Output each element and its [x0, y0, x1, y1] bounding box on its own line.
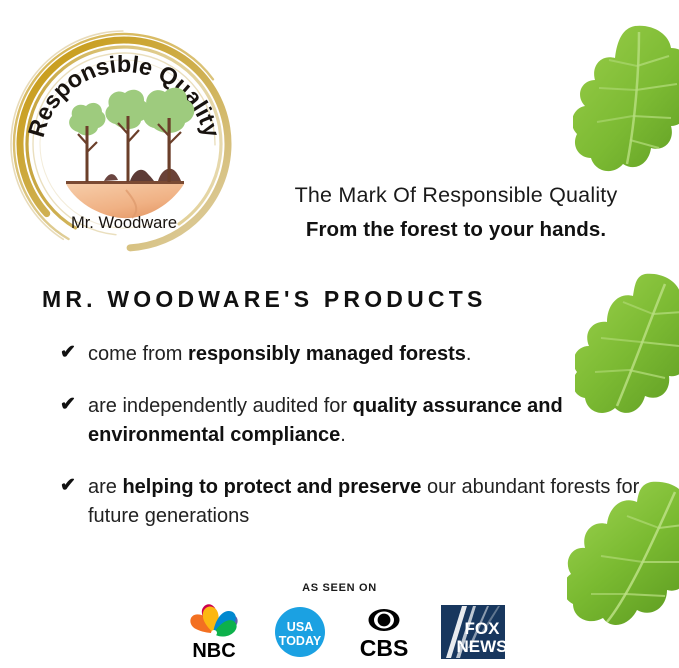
- media-logo-strip: NBC USA TODAY CBS FOX: [0, 604, 679, 660]
- badge-brand-name: Mr. Woodware: [71, 214, 177, 232]
- list-item: ✔ come from responsibly managed forests.: [60, 340, 660, 368]
- page-title: MR. WOODWARE'S PRODUCTS: [42, 286, 487, 313]
- promo-image: Responsible Quality Mr. Woodware: [0, 0, 679, 668]
- benefits-list: ✔ come from responsibly managed forests.…: [60, 340, 660, 554]
- check-icon: ✔: [60, 392, 88, 419]
- cbs-eye-icon: [368, 609, 399, 631]
- list-item-text: are independently audited for quality as…: [88, 392, 660, 449]
- svg-text:NBC: NBC: [192, 640, 235, 660]
- svg-text:TODAY: TODAY: [278, 634, 321, 648]
- svg-text:NEWS: NEWS: [456, 637, 506, 656]
- svg-text:CBS: CBS: [359, 635, 408, 660]
- svg-text:USA: USA: [286, 620, 312, 634]
- oak-leaf-icon: [573, 22, 679, 192]
- list-item: ✔ are helping to protect and preserve ou…: [60, 473, 660, 530]
- tagline-line-1: The Mark Of Responsible Quality: [246, 182, 666, 209]
- fox-news-logo: FOX NEWS: [440, 604, 506, 660]
- cbs-logo: CBS: [346, 604, 422, 660]
- list-item: ✔ are independently audited for quality …: [60, 392, 660, 449]
- usa-today-logo: USA TODAY: [272, 604, 328, 660]
- list-item-text: are helping to protect and preserve our …: [88, 473, 660, 530]
- as-seen-on-label: AS SEEN ON: [0, 582, 679, 594]
- check-icon: ✔: [60, 340, 88, 367]
- nbc-logo: NBC: [174, 604, 254, 660]
- check-icon: ✔: [60, 473, 88, 500]
- list-item-text: come from responsibly managed forests.: [88, 340, 660, 368]
- tagline-line-2: From the forest to your hands.: [246, 218, 666, 242]
- responsible-quality-badge: Responsible Quality Mr. Woodware: [8, 28, 240, 260]
- tagline: The Mark Of Responsible Quality From the…: [246, 182, 666, 242]
- svg-text:FOX: FOX: [464, 619, 500, 638]
